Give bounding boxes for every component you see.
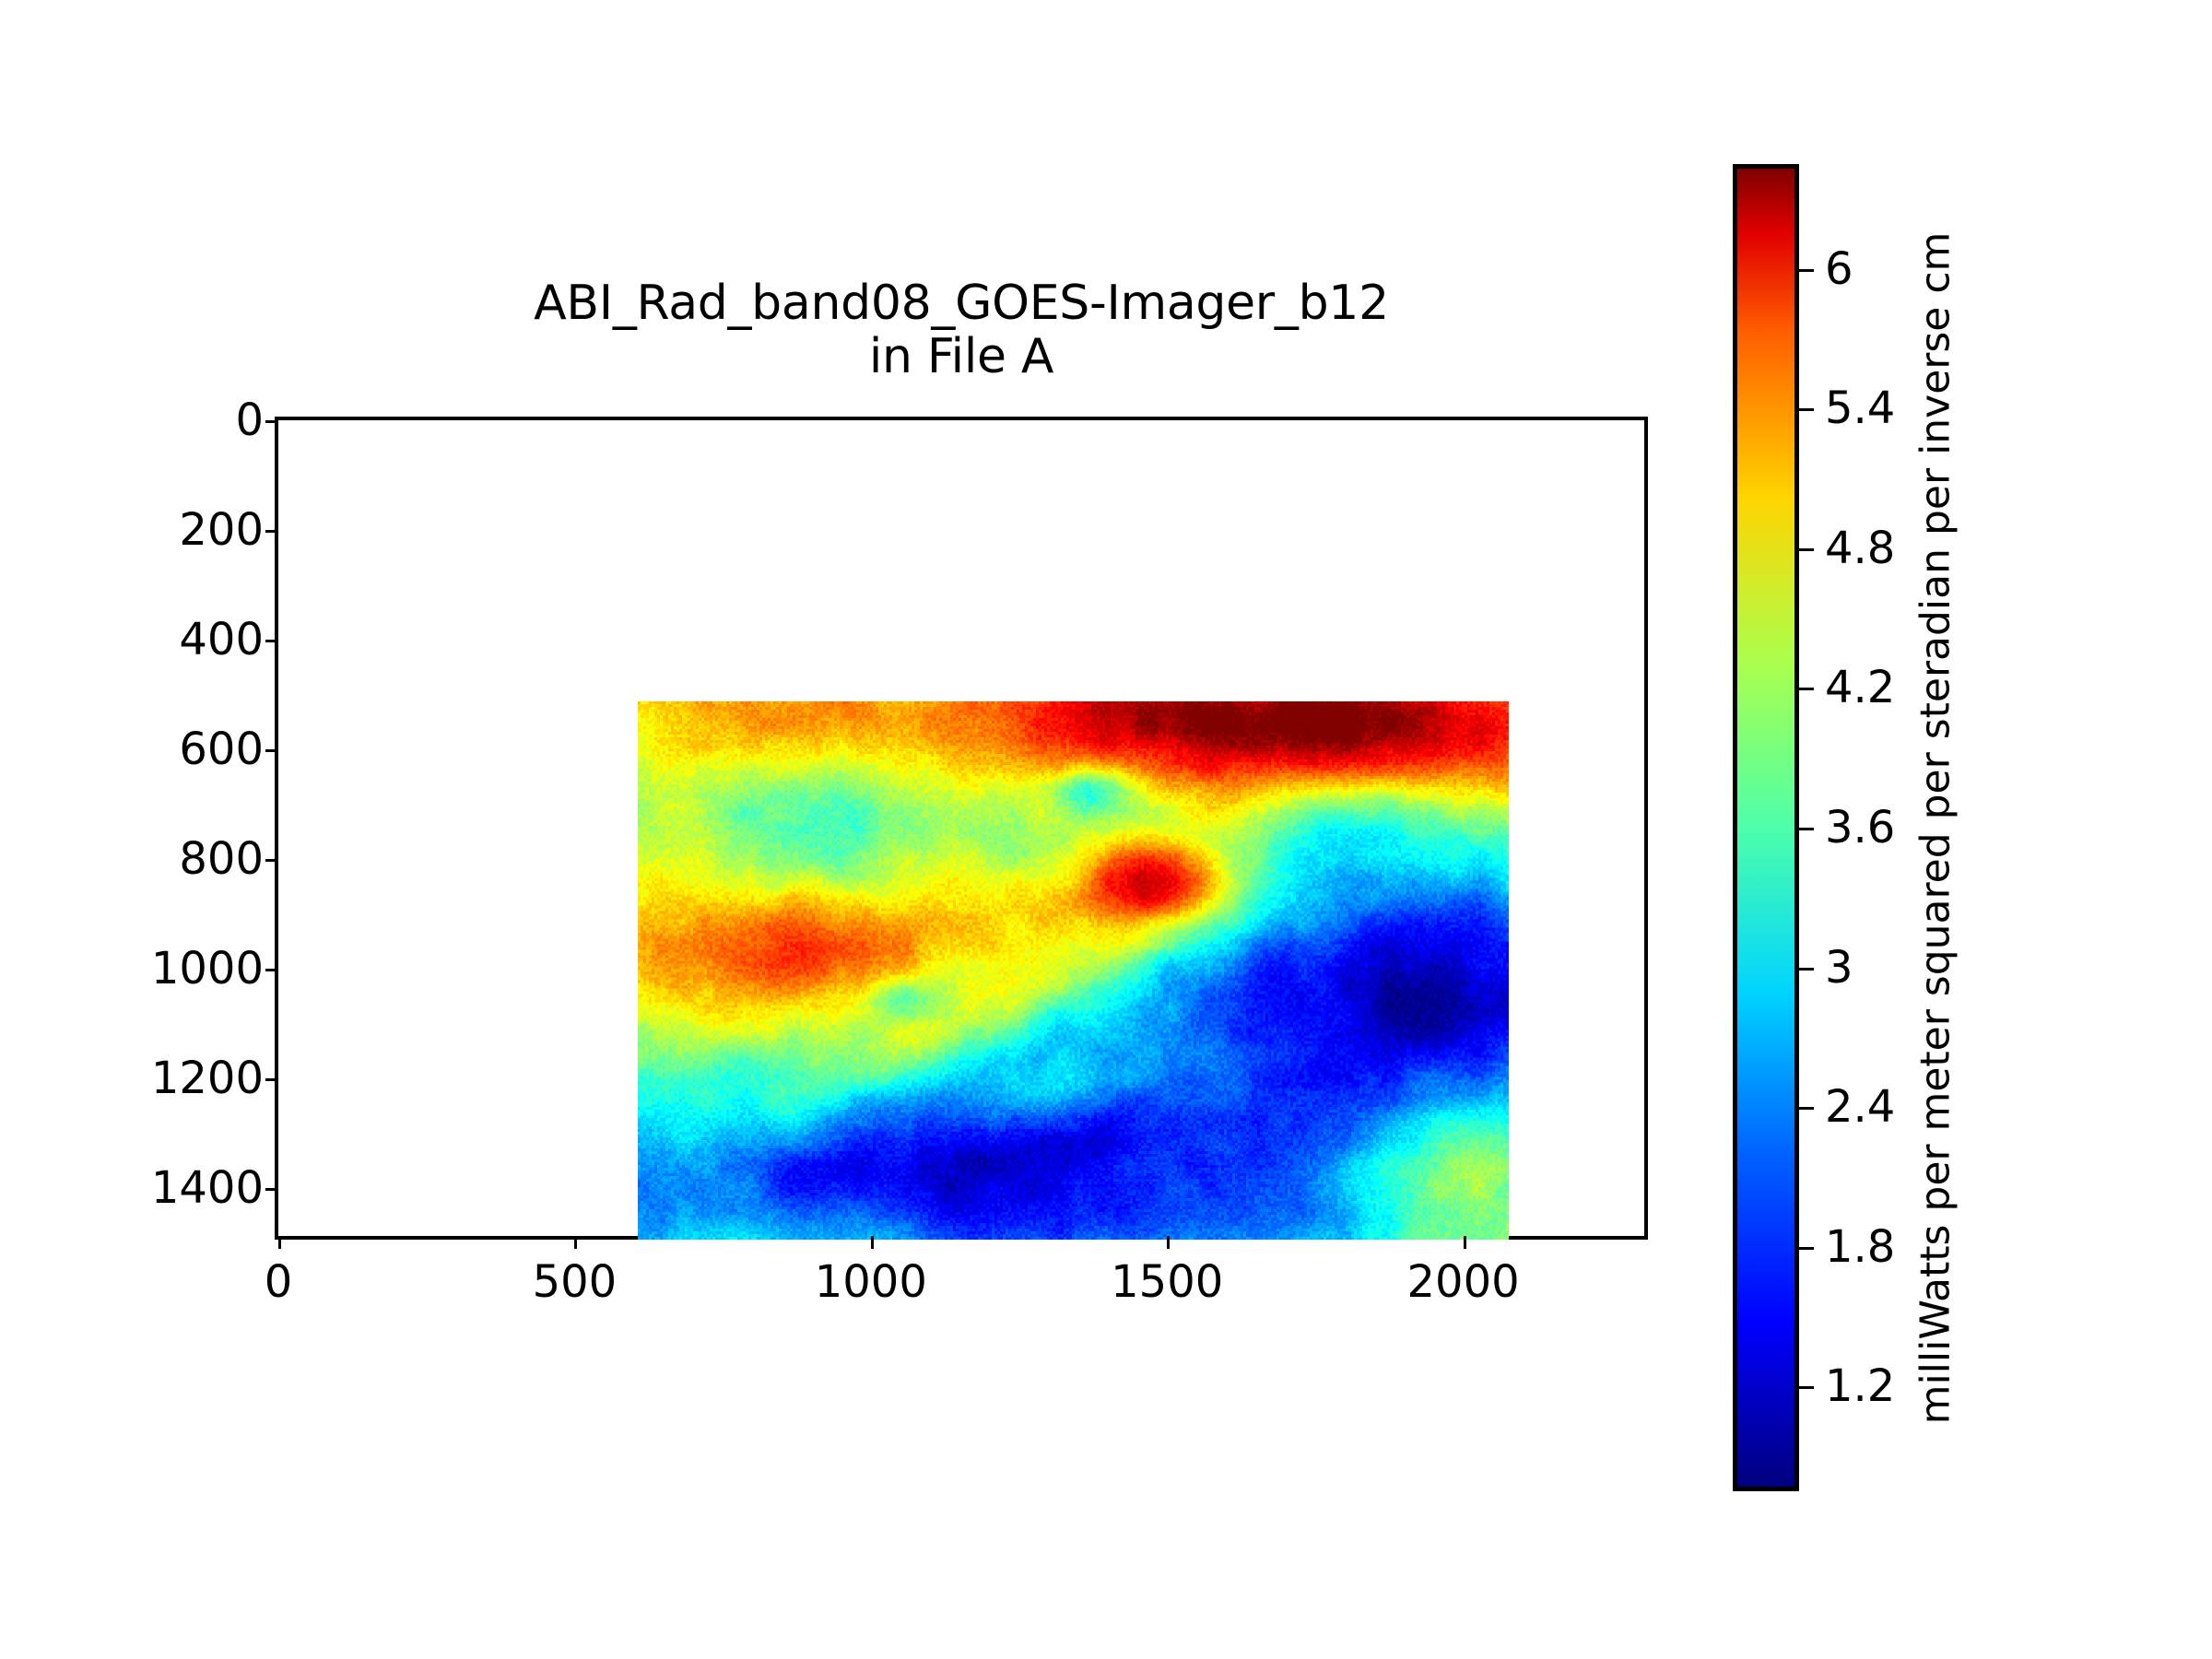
colorbar-tick-label: 4.2 (1825, 662, 1895, 713)
colorbar-tick-mark (1799, 688, 1814, 690)
y-tick-label: 800 (179, 833, 264, 885)
plot-axes: 0200400600800100012001400 05001000150020… (275, 417, 1648, 1240)
x-tick-label: 500 (533, 1256, 618, 1308)
x-tick-label: 2000 (1407, 1256, 1520, 1308)
y-tick-mark (265, 420, 278, 423)
y-tick-mark (265, 969, 278, 971)
page-title: ABI_Rad_band08_GOES-Imager_b12 in File A (275, 276, 1648, 383)
x-tick-mark (1464, 1236, 1466, 1249)
y-tick-mark (265, 530, 278, 533)
y-tick-label: 400 (179, 614, 264, 665)
x-tick-mark (871, 1236, 874, 1249)
colorbar-tick-label: 1.2 (1825, 1360, 1895, 1412)
colorbar-axis-label: milliWatts per meter squared per steradi… (1908, 164, 1963, 1491)
colorbar-tick-label: 1.8 (1825, 1221, 1895, 1273)
colorbar-tick-label: 3 (1825, 942, 1853, 994)
colorbar-label-text: milliWatts per meter squared per steradi… (1912, 231, 1959, 1424)
x-tick-label: 1500 (1111, 1256, 1223, 1308)
colorbar-gradient (1737, 169, 1794, 1487)
colorbar: 1.21.82.433.64.24.85.46 (1733, 164, 1799, 1491)
y-tick-mark (265, 1188, 278, 1191)
x-tick-label: 0 (265, 1256, 293, 1308)
colorbar-tick-label: 5.4 (1825, 382, 1895, 434)
x-tick-mark (1167, 1236, 1170, 1249)
colorbar-tick-label: 4.8 (1825, 523, 1895, 574)
colorbar-tick-mark (1799, 1247, 1814, 1250)
colorbar-tick-label: 2.4 (1825, 1081, 1895, 1133)
colorbar-tick-mark (1799, 408, 1814, 411)
y-tick-mark (265, 1078, 278, 1081)
y-tick-label: 1200 (151, 1053, 264, 1104)
colorbar-tick-label: 3.6 (1825, 802, 1895, 853)
figure-canvas: ABI_Rad_band08_GOES-Imager_b12 in File A… (0, 0, 2212, 1659)
colorbar-tick-mark (1799, 548, 1814, 551)
y-tick-mark (265, 640, 278, 642)
y-tick-label: 200 (179, 504, 264, 556)
y-tick-mark (265, 749, 278, 752)
y-tick-label: 0 (235, 394, 264, 446)
heatmap-image (638, 701, 1509, 1240)
y-tick-label: 1400 (151, 1162, 264, 1214)
colorbar-tick-mark (1799, 1107, 1814, 1110)
y-tick-label: 600 (179, 724, 264, 775)
colorbar-tick-mark (1799, 828, 1814, 830)
colorbar-tick-mark (1799, 968, 1814, 971)
colorbar-tick-mark (1799, 1386, 1814, 1389)
colorbar-tick-label: 6 (1825, 243, 1853, 295)
y-tick-mark (265, 859, 278, 862)
x-tick-mark (574, 1236, 577, 1249)
colorbar-frame (1733, 164, 1799, 1491)
x-tick-mark (278, 1236, 281, 1249)
x-tick-label: 1000 (815, 1256, 927, 1308)
y-tick-label: 1000 (151, 943, 264, 994)
colorbar-tick-mark (1799, 269, 1814, 272)
